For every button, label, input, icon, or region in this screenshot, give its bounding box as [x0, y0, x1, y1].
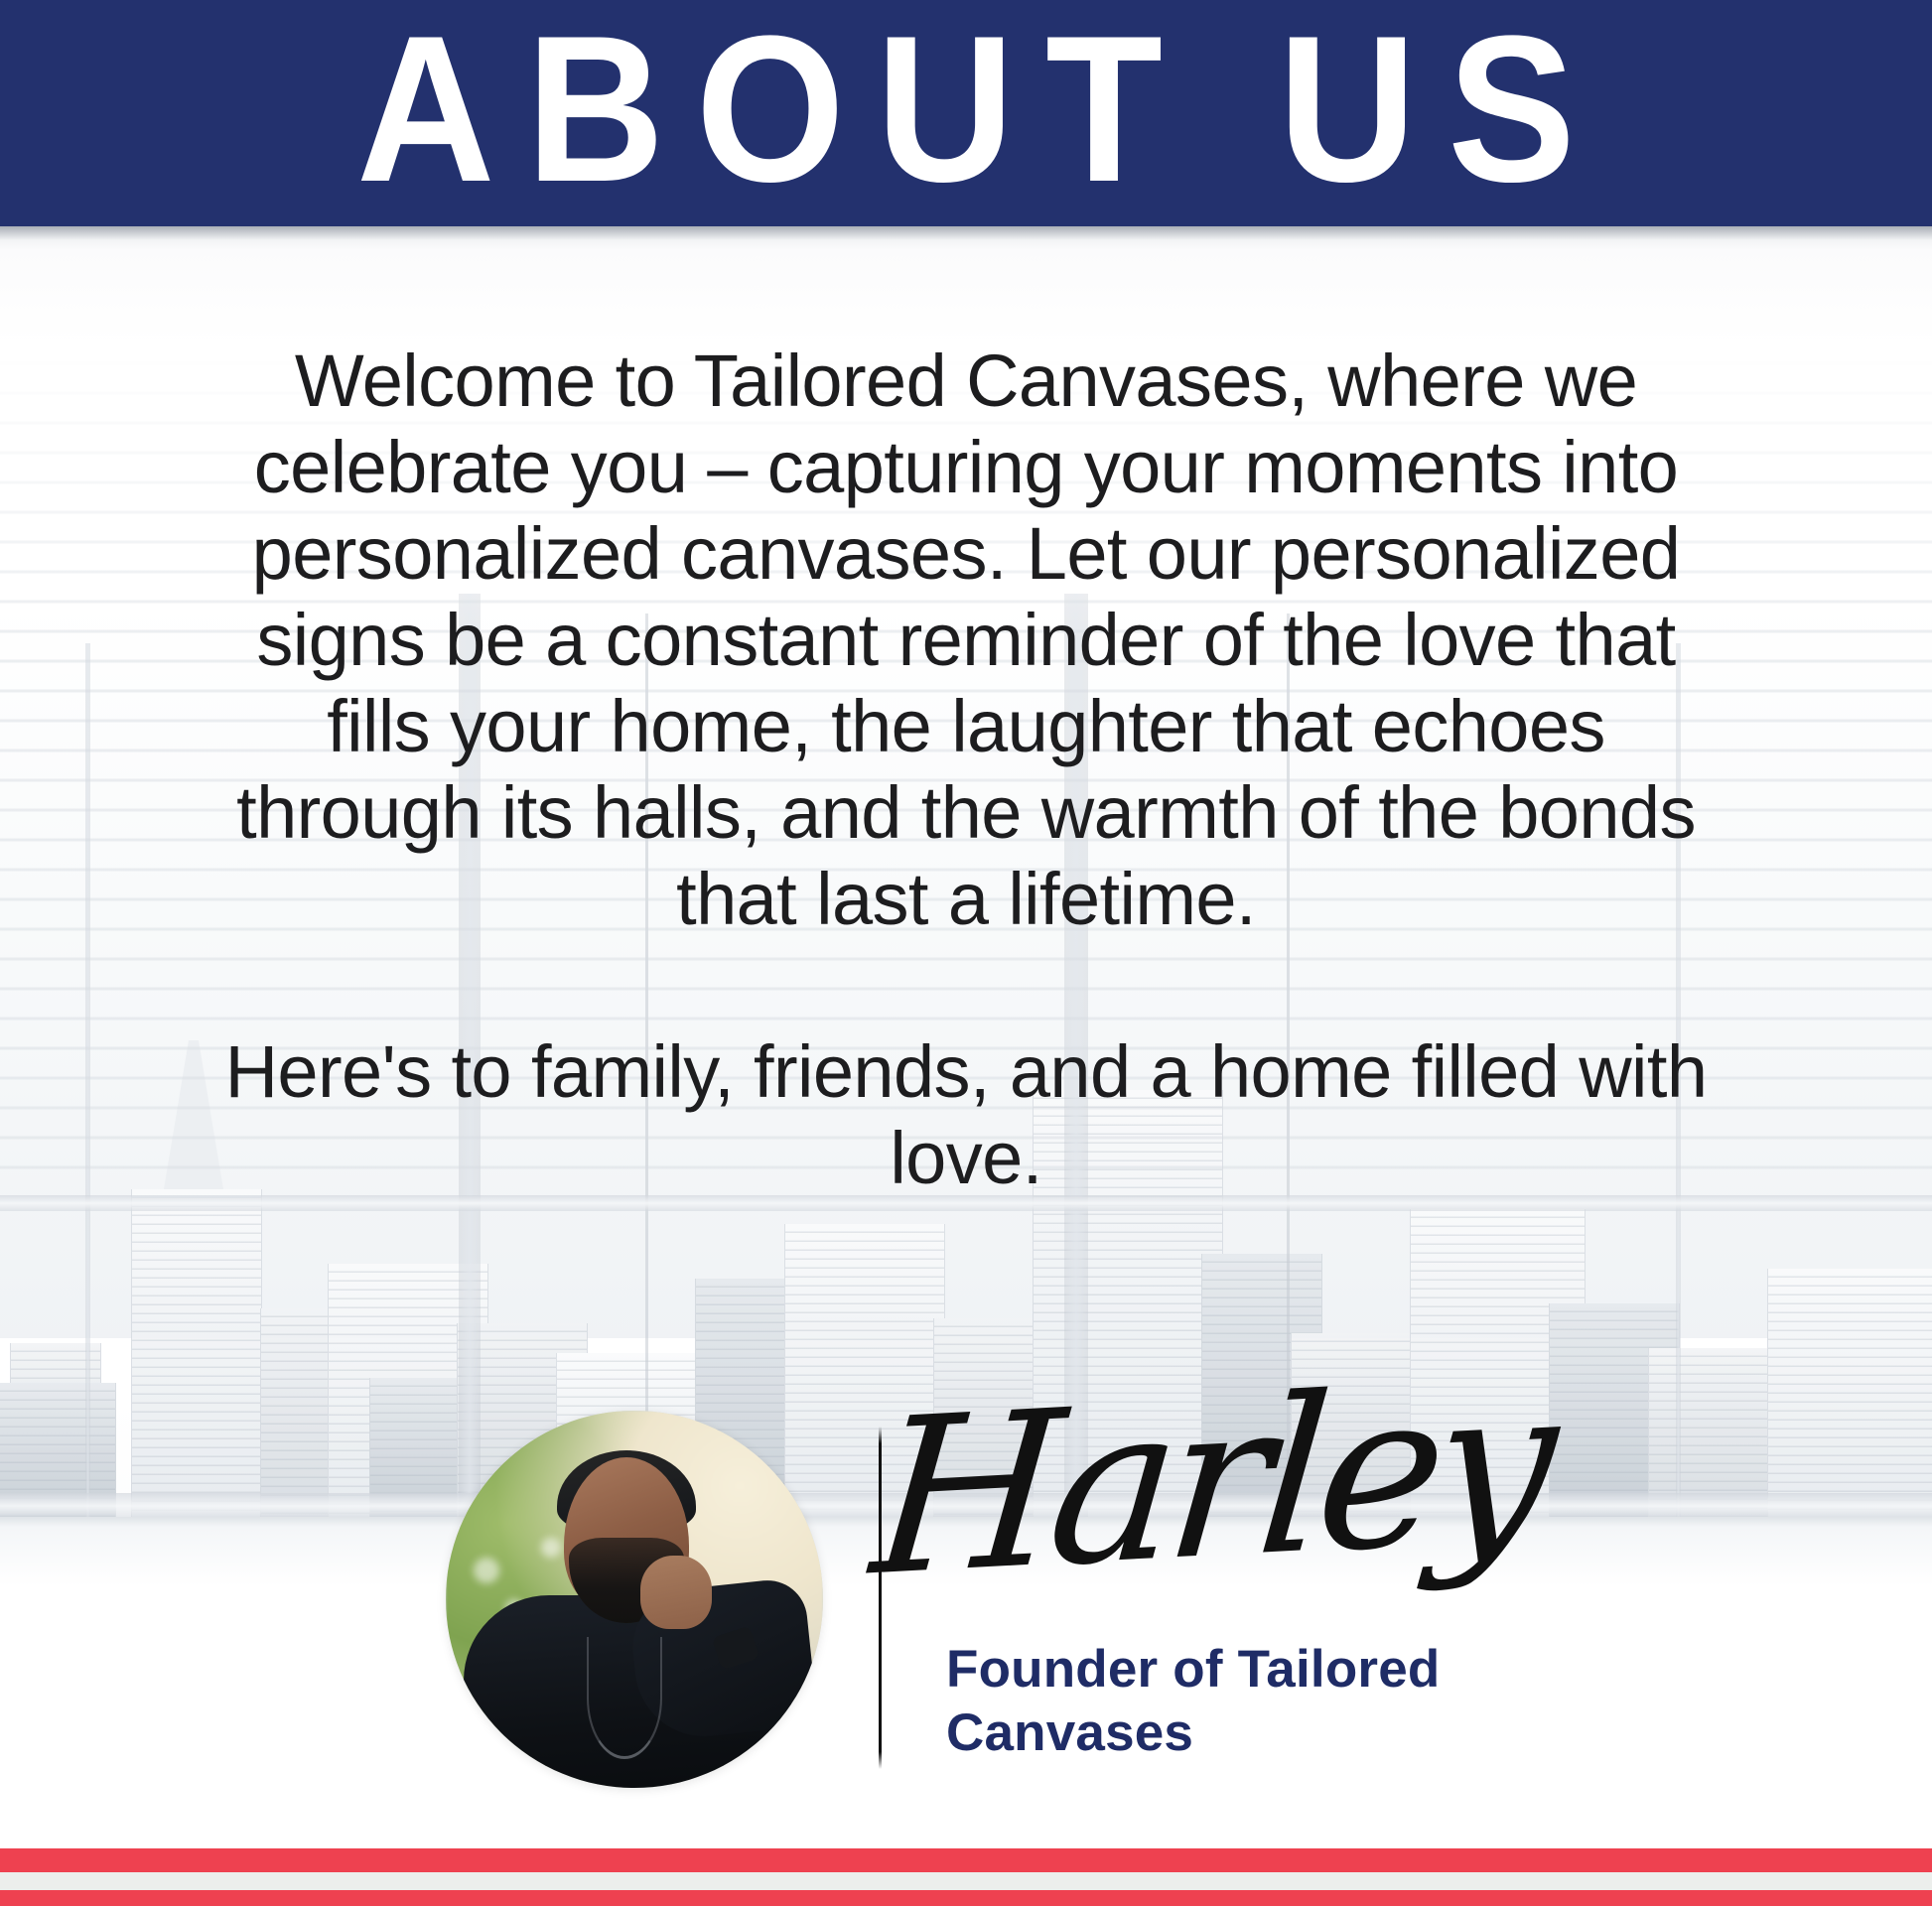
founder-avatar	[446, 1411, 823, 1788]
avatar-hand	[640, 1556, 712, 1629]
paragraph-spacer	[211, 942, 1721, 1028]
footer-bar-gap	[0, 1872, 1932, 1890]
about-copy: Welcome to Tailored Canvases, where we c…	[211, 338, 1721, 1201]
footer-bar-bottom	[0, 1890, 1932, 1906]
avatar-necklace	[587, 1637, 662, 1759]
founder-title-line-1: Founder of Tailored	[946, 1638, 1562, 1702]
header-banner: ABOUT US	[0, 0, 1932, 226]
about-us-page: ABOUT US Welcome to Tailored Canvases, w…	[0, 0, 1932, 1906]
founder-title-line-2: Canvases	[946, 1702, 1562, 1765]
page-title: ABOUT US	[77, 2, 1855, 215]
about-paragraph-2: Here's to family, friends, and a home fi…	[211, 1028, 1721, 1201]
founder-title: Founder of Tailored Canvases	[946, 1638, 1562, 1765]
header-shadow	[0, 226, 1932, 240]
about-paragraph-1: Welcome to Tailored Canvases, where we c…	[211, 338, 1721, 942]
founder-signature: Harley	[861, 1337, 1502, 1669]
footer-bar-top	[0, 1848, 1932, 1872]
